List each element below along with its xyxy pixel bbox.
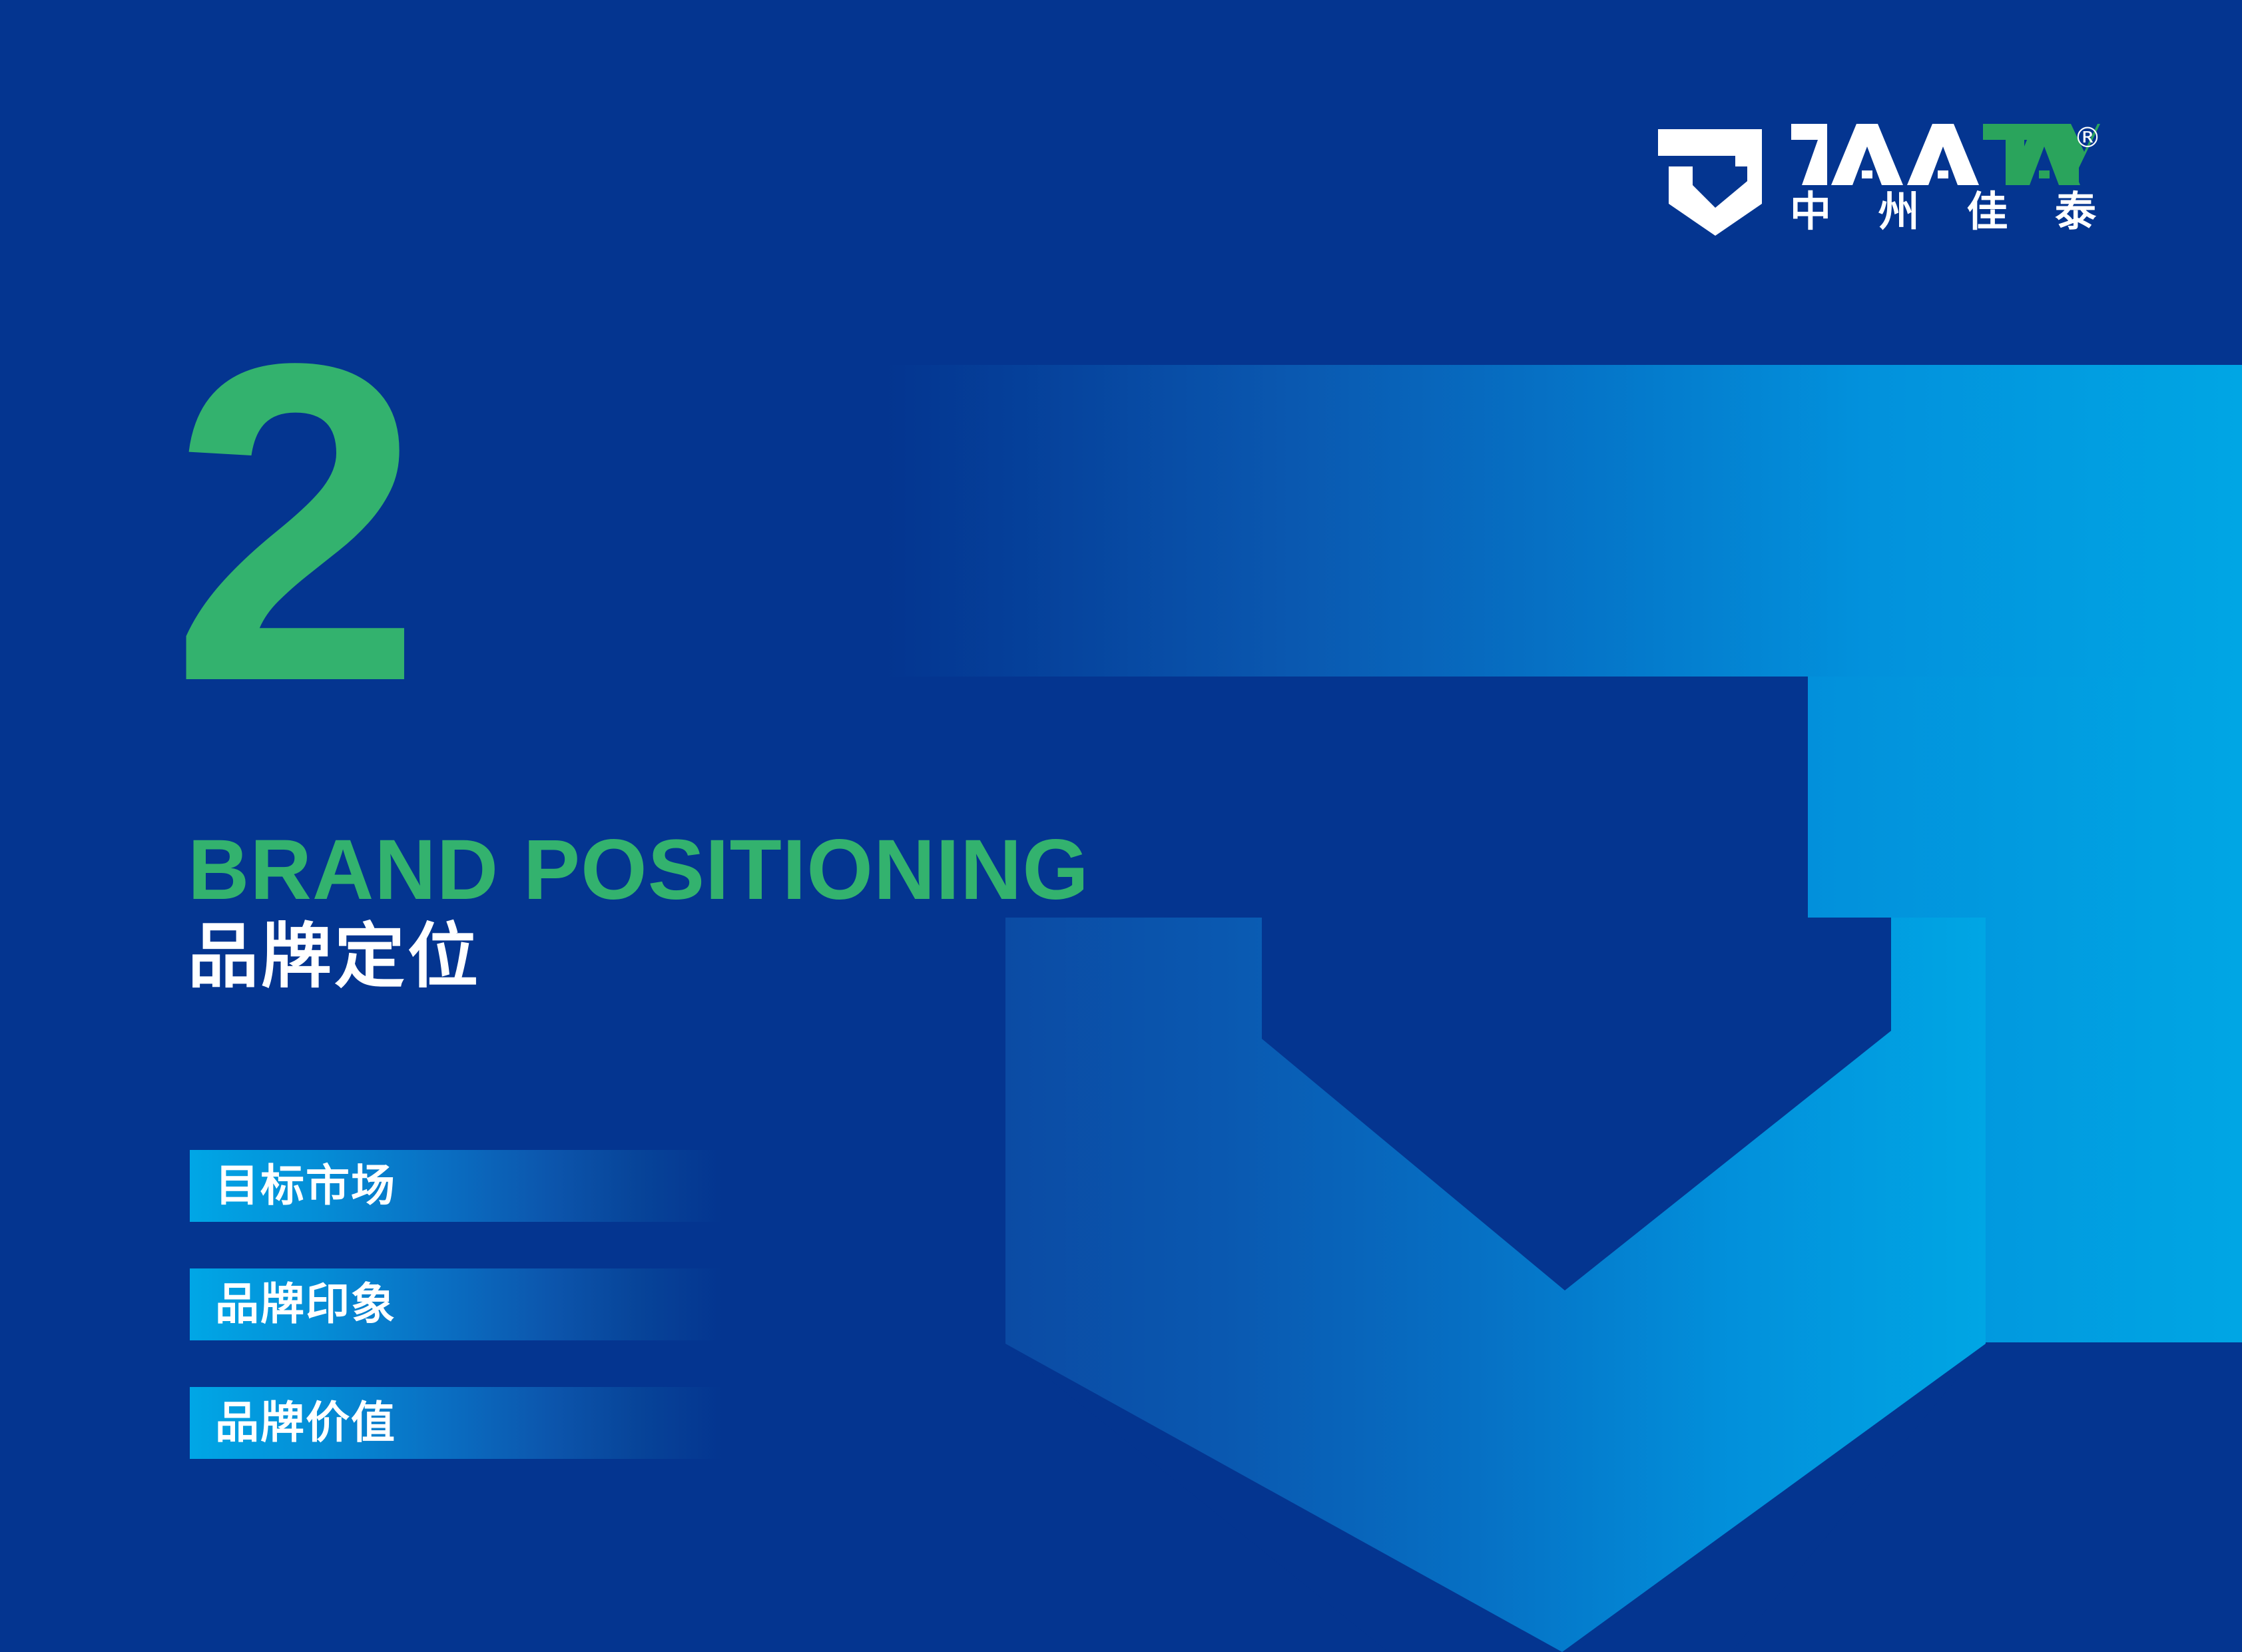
agenda-list: 目标市场 品牌印象 品牌价值 bbox=[190, 1150, 722, 1459]
logo-cn-char-4: 泰 bbox=[2055, 190, 2096, 233]
agenda-item-brand-impression[interactable]: 品牌印象 bbox=[190, 1268, 722, 1340]
j-mark-inner-notch bbox=[1262, 918, 1891, 1290]
j-mark-right-wedge bbox=[1731, 1344, 1986, 1652]
section-number: 2 bbox=[170, 310, 416, 736]
jaatay-wordmark-icon bbox=[1787, 124, 2100, 185]
jaatay-j-shield-icon bbox=[1657, 129, 1782, 236]
agenda-item-label: 目标市场 bbox=[215, 1163, 396, 1209]
j-mark-left-wedge bbox=[1005, 1344, 1388, 1652]
logo-chinese-name: 中 州 佳 泰 bbox=[1790, 190, 2096, 233]
logo-cn-char-1: 中 bbox=[1790, 190, 1831, 233]
agenda-item-target-market[interactable]: 目标市场 bbox=[190, 1150, 722, 1222]
logo-cn-char-3: 佳 bbox=[1966, 190, 2008, 233]
registered-trademark-icon: ® bbox=[2074, 124, 2102, 152]
agenda-item-label: 品牌印象 bbox=[215, 1281, 396, 1328]
j-mark-shield bbox=[1005, 918, 1986, 1652]
brand-logo: ® 中 州 佳 泰 bbox=[1657, 124, 2096, 244]
j-mark-top-bar bbox=[886, 365, 2242, 677]
section-title-chinese: 品牌定位 bbox=[188, 920, 481, 993]
agenda-item-label: 品牌价值 bbox=[215, 1400, 396, 1446]
logo-cn-char-2: 州 bbox=[1878, 190, 1920, 233]
j-mark-stem bbox=[1808, 677, 2242, 1342]
section-title-english: BRAND POSITIONING bbox=[188, 828, 1089, 913]
agenda-item-brand-value[interactable]: 品牌价值 bbox=[190, 1387, 722, 1459]
slide-canvas: ® 中 州 佳 泰 2 BRAND POSITIONING 品牌定位 目标市场 … bbox=[0, 0, 2242, 1652]
